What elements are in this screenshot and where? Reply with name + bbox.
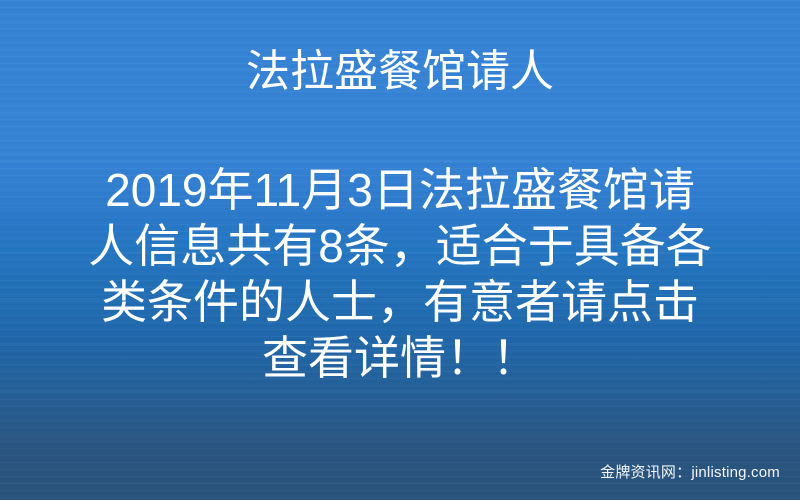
body-line-3: 类条件的人士，有意者请点击 [58,274,742,330]
body-line-1: 2019年11月3日法拉盛餐馆请 [58,162,742,218]
body-line-2: 人信息共有8条，适合于具备各 [58,218,742,274]
page-title: 法拉盛餐馆请人 [0,44,800,100]
site-watermark: 金牌资讯网：jinlisting.com [600,464,780,482]
body-line-4: 查看详情！！ [58,330,742,386]
poster-content: 法拉盛餐馆请人 2019年11月3日法拉盛餐馆请 人信息共有8条，适合于具备各 … [0,0,800,500]
promo-poster: 法拉盛餐馆请人 2019年11月3日法拉盛餐馆请 人信息共有8条，适合于具备各 … [0,0,800,500]
poster-body-text: 2019年11月3日法拉盛餐馆请 人信息共有8条，适合于具备各 类条件的人士，有… [58,162,742,386]
